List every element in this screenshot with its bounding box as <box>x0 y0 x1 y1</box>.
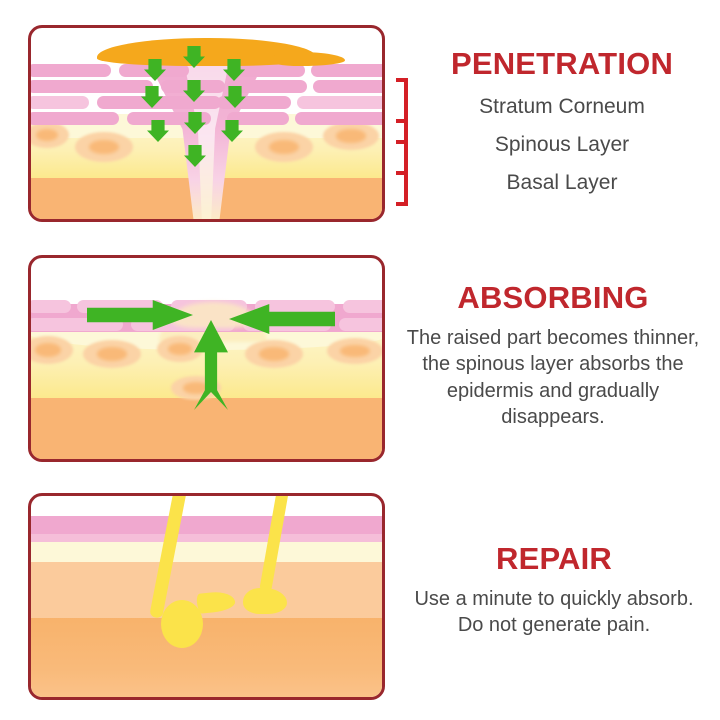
panel-3-artwork <box>31 496 382 697</box>
description-absorbing: The raised part becomes thinner, the spi… <box>398 325 708 431</box>
corneum-band-soft-3 <box>31 534 382 542</box>
layer-label-basal-layer: Basal Layer <box>412 171 712 195</box>
spinous-cell <box>75 132 133 162</box>
spinous-cell <box>255 132 313 162</box>
illustration-panel-penetration <box>28 25 385 222</box>
gel-blob-tail <box>269 52 345 66</box>
panel-2-artwork <box>31 258 382 459</box>
infographic-root: PENETRATION Stratum Corneum Spinous Laye… <box>0 0 720 720</box>
corneum-brick <box>31 64 111 77</box>
spinous-cell <box>245 340 303 368</box>
corneum-brick <box>31 300 71 313</box>
bracket-tick <box>396 78 408 82</box>
layer-label-spinous-layer: Spinous Layer <box>412 133 712 157</box>
corneum-brick <box>339 318 382 331</box>
heading-penetration: PENETRATION <box>412 48 712 81</box>
layer-label-stratum-corneum: Stratum Corneum <box>412 95 712 119</box>
corneum-brick <box>295 112 382 125</box>
hair-follicle-bulb <box>161 600 203 648</box>
corneum-brick <box>31 112 119 125</box>
layer-bracket <box>396 78 408 206</box>
panel-1-artwork <box>31 28 382 219</box>
text-block-repair: REPAIR Use a minute to quickly absorb. D… <box>400 543 708 639</box>
hair-follicle-bulb <box>243 588 287 614</box>
bracket-tick <box>396 119 408 123</box>
spinous-cell <box>83 340 141 368</box>
spinous-cell <box>323 122 379 150</box>
bracket-tick <box>396 140 408 144</box>
text-block-penetration: PENETRATION Stratum Corneum Spinous Laye… <box>412 48 712 195</box>
illustration-panel-absorbing <box>28 255 385 462</box>
bracket-tick <box>396 202 408 206</box>
corneum-brick <box>343 300 382 313</box>
corneum-brick <box>297 96 382 109</box>
corneum-brick <box>31 96 89 109</box>
heading-repair: REPAIR <box>400 543 708 576</box>
bracket-tick <box>396 171 408 175</box>
corneum-brick <box>311 64 382 77</box>
description-repair: Use a minute to quickly absorb. Do not g… <box>400 586 708 639</box>
illustration-panel-repair <box>28 493 385 700</box>
basal-layer-fill-2 <box>31 398 382 459</box>
corneum-brick <box>313 80 382 93</box>
spinous-cell <box>327 338 382 364</box>
heading-absorbing: ABSORBING <box>398 282 708 315</box>
basal-layer-3 <box>31 614 382 697</box>
corneum-brick <box>31 80 153 93</box>
text-block-absorbing: ABSORBING The raised part becomes thinne… <box>398 282 708 431</box>
